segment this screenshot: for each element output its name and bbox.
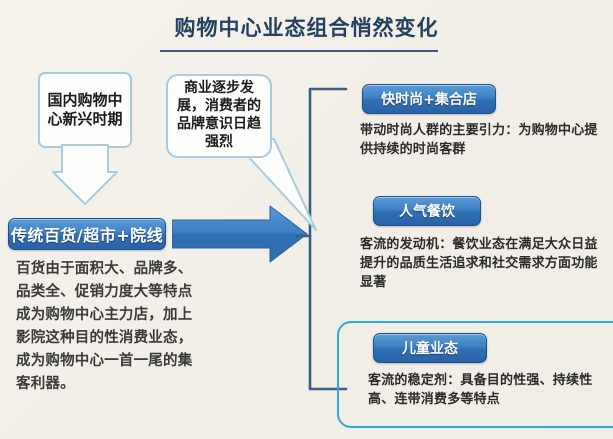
slide-canvas: 购物中心业态组合悄然变化 国内购物中心新兴时期 商业逐步发展，消费者的品牌意识日…: [0, 0, 613, 439]
pill-traditional-department-store[interactable]: 传统百货/超市+院线: [8, 218, 166, 250]
down-arrow-icon: [52, 144, 118, 206]
page-title: 购物中心业态组合悄然变化: [0, 12, 613, 42]
description-fast-fashion: 带动时尚人群的主要引力：为购物中心提供持续的时尚客群: [360, 122, 606, 160]
description-popular-dining: 客流的发动机：餐饮业态在满足大众日益提升的品质生活追求和社交需求方面功能显著: [360, 236, 608, 293]
description-traditional-format: 百货由于面积大、品牌多、品类全、促销力度大等特点成为购物中心主力店，加上影院这种…: [16, 258, 202, 395]
callout-domestic-period: 国内购物中心新兴时期: [38, 72, 132, 148]
pill-fast-fashion-collection-store[interactable]: 快时尚+集合店: [362, 84, 496, 114]
title-underline-divider: [160, 50, 438, 52]
callout-brand-awareness: 商业逐步发展，消费者的品牌意识日趋强烈: [166, 74, 272, 158]
highlight-box-children-format: [337, 321, 613, 428]
pill-popular-dining[interactable]: 人气餐饮: [373, 196, 481, 226]
